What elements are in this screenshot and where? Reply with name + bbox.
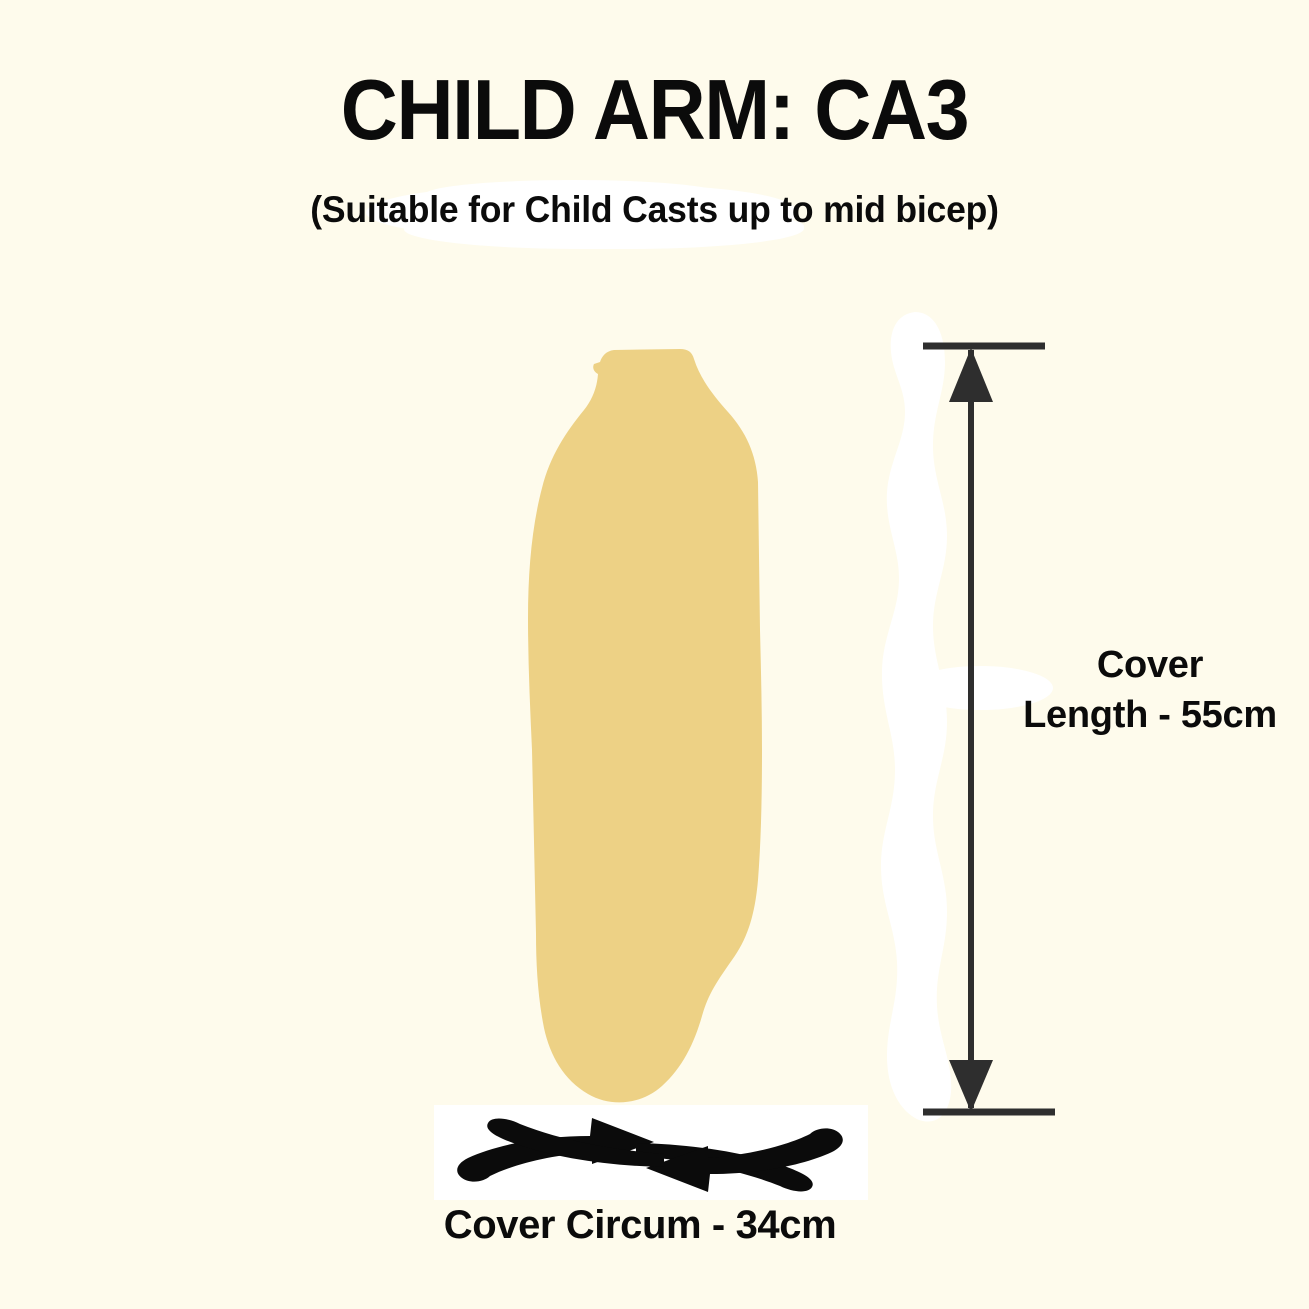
arm-cast-path (528, 349, 762, 1102)
child-arm-cast-silhouette (480, 330, 800, 1120)
arrow-down-icon (949, 1060, 993, 1112)
subtitle-container: (Suitable for Child Casts up to mid bice… (0, 182, 1309, 242)
cover-circumference-label: Cover Circum - 34cm (290, 1203, 990, 1248)
circular-double-arrow-icon (440, 1110, 860, 1200)
cover-length-label-line2: Length - 55cm (1000, 690, 1300, 740)
cover-length-label-line1: Cover (1000, 640, 1300, 690)
cover-length-label: Cover Length - 55cm (1000, 640, 1300, 740)
size-guide-canvas: CHILD ARM: CA3 (Suitable for Child Casts… (0, 0, 1309, 1309)
arrow-head-left (646, 1128, 843, 1192)
arrow-up-icon (949, 348, 993, 402)
page-title: CHILD ARM: CA3 (46, 68, 1263, 153)
page-subtitle: (Suitable for Child Casts up to mid bice… (26, 182, 1283, 238)
